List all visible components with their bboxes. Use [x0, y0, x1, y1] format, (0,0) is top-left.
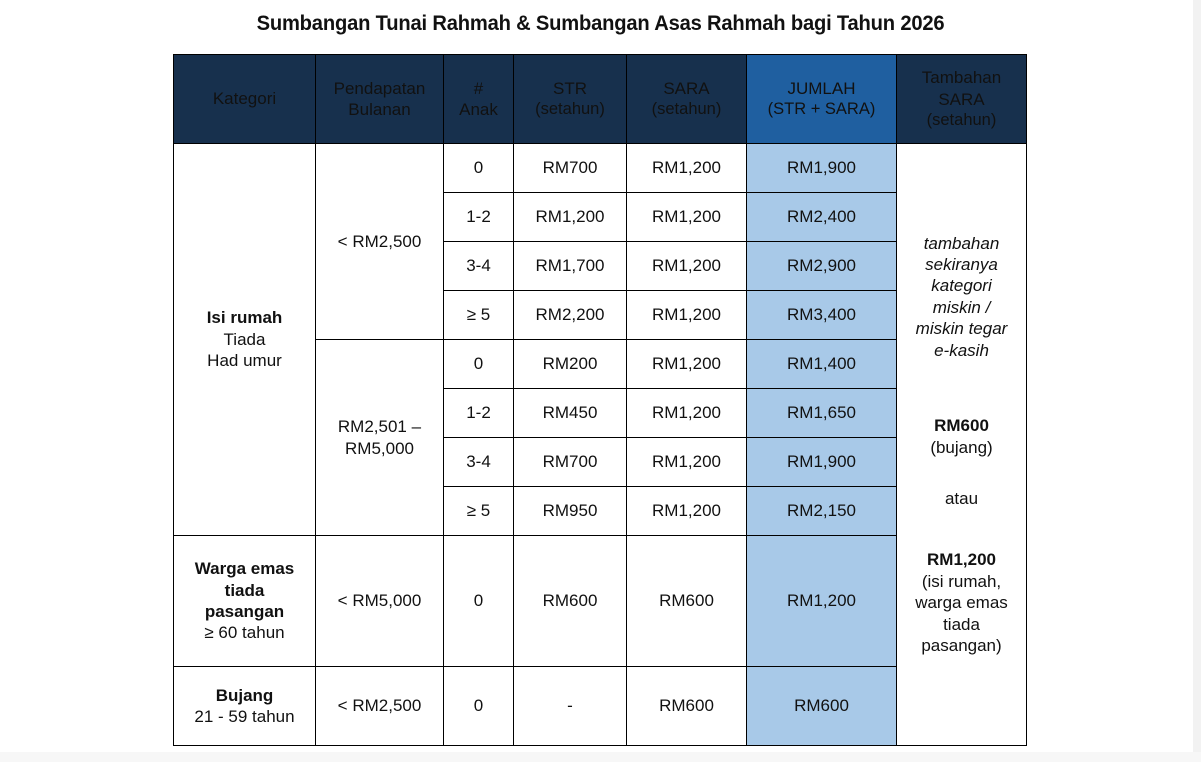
- tambahan-note-line1: tambahan: [900, 233, 1023, 254]
- children-count-cell: 0: [444, 536, 514, 667]
- jumlah-amount-cell: RM1,400: [747, 340, 897, 389]
- tambahan-amount-2-note-line2: warga emas: [915, 593, 1008, 612]
- str-amount-cell: RM1,200: [514, 193, 627, 242]
- tambahan-note-line4: miskin /: [900, 297, 1023, 318]
- str-amount-cell: RM700: [514, 144, 627, 193]
- category-name-bold-1: Warga emas: [177, 558, 312, 579]
- header-row: Kategori Pendapatan Bulanan # Anak STR (…: [174, 55, 1027, 144]
- sara-amount-cell: RM1,200: [627, 340, 747, 389]
- jumlah-amount-cell: RM1,200: [747, 536, 897, 667]
- str-amount-cell: RM950: [514, 487, 627, 536]
- jumlah-amount-cell: RM2,400: [747, 193, 897, 242]
- jumlah-amount-cell: RM2,150: [747, 487, 897, 536]
- sara-amount-cell: RM1,200: [627, 193, 747, 242]
- children-count-cell: 3-4: [444, 438, 514, 487]
- str-amount-cell: RM700: [514, 438, 627, 487]
- sara-amount-cell: RM600: [627, 667, 747, 746]
- jumlah-amount-cell: RM1,900: [747, 144, 897, 193]
- grant-table: Kategori Pendapatan Bulanan # Anak STR (…: [173, 54, 1027, 746]
- tambahan-note-line5: miskin tegar: [900, 318, 1023, 339]
- column-header-tambahan: Tambahan SARA (setahun): [897, 55, 1027, 144]
- tambahan-sara-cell: tambahan sekiranya kategori miskin / mis…: [897, 144, 1027, 746]
- tambahan-amount-2-note-line4: pasangan): [921, 636, 1001, 655]
- column-header-kategori: Kategori: [174, 55, 316, 144]
- children-count-cell: 0: [444, 340, 514, 389]
- header-label-pendapatan-line2: Bulanan: [348, 100, 410, 119]
- jumlah-amount-cell: RM2,900: [747, 242, 897, 291]
- category-cell-warga-emas: Warga emas tiada pasangan ≥ 60 tahun: [174, 536, 316, 667]
- category-name-plain-2: Had umur: [177, 350, 312, 371]
- children-count-cell: 3-4: [444, 242, 514, 291]
- header-label-tambahan-line2: SARA: [938, 90, 984, 109]
- tambahan-amount-1: RM600: [900, 415, 1023, 436]
- children-count-cell: 0: [444, 667, 514, 746]
- page-title: Sumbangan Tunai Rahmah & Sumbangan Asas …: [24, 12, 1177, 36]
- jumlah-amount-cell: RM1,650: [747, 389, 897, 438]
- tambahan-amount-2-note-line3: tiada: [943, 615, 980, 634]
- sara-amount-cell: RM1,200: [627, 438, 747, 487]
- table-row: Isi rumah Tiada Had umur < RM2,500 0 RM7…: [174, 144, 1027, 193]
- column-header-anak: # Anak: [444, 55, 514, 144]
- income-band-cell-4: < RM2,500: [316, 667, 444, 746]
- children-count-cell: 1-2: [444, 389, 514, 438]
- header-label-sara: SARA: [663, 79, 709, 98]
- category-name-bold: Bujang: [177, 685, 312, 706]
- category-name-bold: Isi rumah: [177, 307, 312, 328]
- sara-amount-cell: RM1,200: [627, 291, 747, 340]
- income-band-cell-2: RM2,501 – RM5,000: [316, 340, 444, 536]
- sara-amount-cell: RM1,200: [627, 144, 747, 193]
- sara-amount-cell: RM1,200: [627, 389, 747, 438]
- category-name-bold-2: tiada: [177, 580, 312, 601]
- header-sublabel-str: (setahun): [517, 99, 623, 120]
- header-sublabel-jumlah: (STR + SARA): [750, 99, 893, 120]
- sara-amount-cell: RM1,200: [627, 242, 747, 291]
- tambahan-conjunction: atau: [900, 488, 1023, 509]
- children-count-cell: 1-2: [444, 193, 514, 242]
- tambahan-note-line6: e-kasih: [900, 340, 1023, 361]
- str-amount-cell: RM200: [514, 340, 627, 389]
- header-label-str: STR: [553, 79, 587, 98]
- header-label-kategori: Kategori: [213, 89, 276, 108]
- str-amount-cell: -: [514, 667, 627, 746]
- category-name-bold-3: pasangan: [177, 601, 312, 622]
- income-band-cell-1: < RM2,500: [316, 144, 444, 340]
- header-label-pendapatan-line1: Pendapatan: [334, 79, 426, 98]
- sara-amount-cell: RM600: [627, 536, 747, 667]
- column-header-str: STR (setahun): [514, 55, 627, 144]
- page-background: Sumbangan Tunai Rahmah & Sumbangan Asas …: [0, 0, 1201, 762]
- tambahan-note-line2: sekiranya: [900, 254, 1023, 275]
- header-label-anak-line2: Anak: [459, 100, 498, 119]
- category-name-plain: ≥ 60 tahun: [177, 622, 312, 643]
- jumlah-amount-cell: RM600: [747, 667, 897, 746]
- str-amount-cell: RM450: [514, 389, 627, 438]
- jumlah-amount-cell: RM3,400: [747, 291, 897, 340]
- income-band-line1: RM2,501 –: [338, 417, 421, 436]
- sara-amount-cell: RM1,200: [627, 487, 747, 536]
- str-amount-cell: RM600: [514, 536, 627, 667]
- header-label-jumlah: JUMLAH: [787, 79, 855, 98]
- column-header-jumlah: JUMLAH (STR + SARA): [747, 55, 897, 144]
- column-header-pendapatan: Pendapatan Bulanan: [316, 55, 444, 144]
- table-body: Isi rumah Tiada Had umur < RM2,500 0 RM7…: [174, 144, 1027, 746]
- tambahan-amount-1-note: (bujang): [930, 438, 992, 457]
- tambahan-note-line3: kategori: [900, 275, 1023, 296]
- str-amount-cell: RM1,700: [514, 242, 627, 291]
- children-count-cell: ≥ 5: [444, 487, 514, 536]
- jumlah-amount-cell: RM1,900: [747, 438, 897, 487]
- income-band-cell-3: < RM5,000: [316, 536, 444, 667]
- tambahan-amount-2: RM1,200: [900, 549, 1023, 570]
- tambahan-amount-2-note-line1: (isi rumah,: [922, 572, 1001, 591]
- header-sublabel-sara: (setahun): [630, 99, 743, 120]
- category-cell-bujang: Bujang 21 - 59 tahun: [174, 667, 316, 746]
- table-header: Kategori Pendapatan Bulanan # Anak STR (…: [174, 55, 1027, 144]
- children-count-cell: 0: [444, 144, 514, 193]
- grant-table-container: Kategori Pendapatan Bulanan # Anak STR (…: [173, 54, 1026, 746]
- category-name-plain-1: Tiada: [177, 329, 312, 350]
- column-header-sara: SARA (setahun): [627, 55, 747, 144]
- category-name-plain: 21 - 59 tahun: [177, 706, 312, 727]
- income-band-line2: RM5,000: [345, 439, 414, 458]
- str-amount-cell: RM2,200: [514, 291, 627, 340]
- header-label-tambahan-line1: Tambahan: [922, 68, 1001, 87]
- header-sublabel-tambahan: (setahun): [900, 110, 1023, 131]
- category-cell-isi-rumah: Isi rumah Tiada Had umur: [174, 144, 316, 536]
- children-count-cell: ≥ 5: [444, 291, 514, 340]
- header-label-anak-line1: #: [474, 79, 483, 98]
- bottom-edge-strip: [0, 752, 1201, 762]
- right-edge-strip: [1193, 0, 1201, 762]
